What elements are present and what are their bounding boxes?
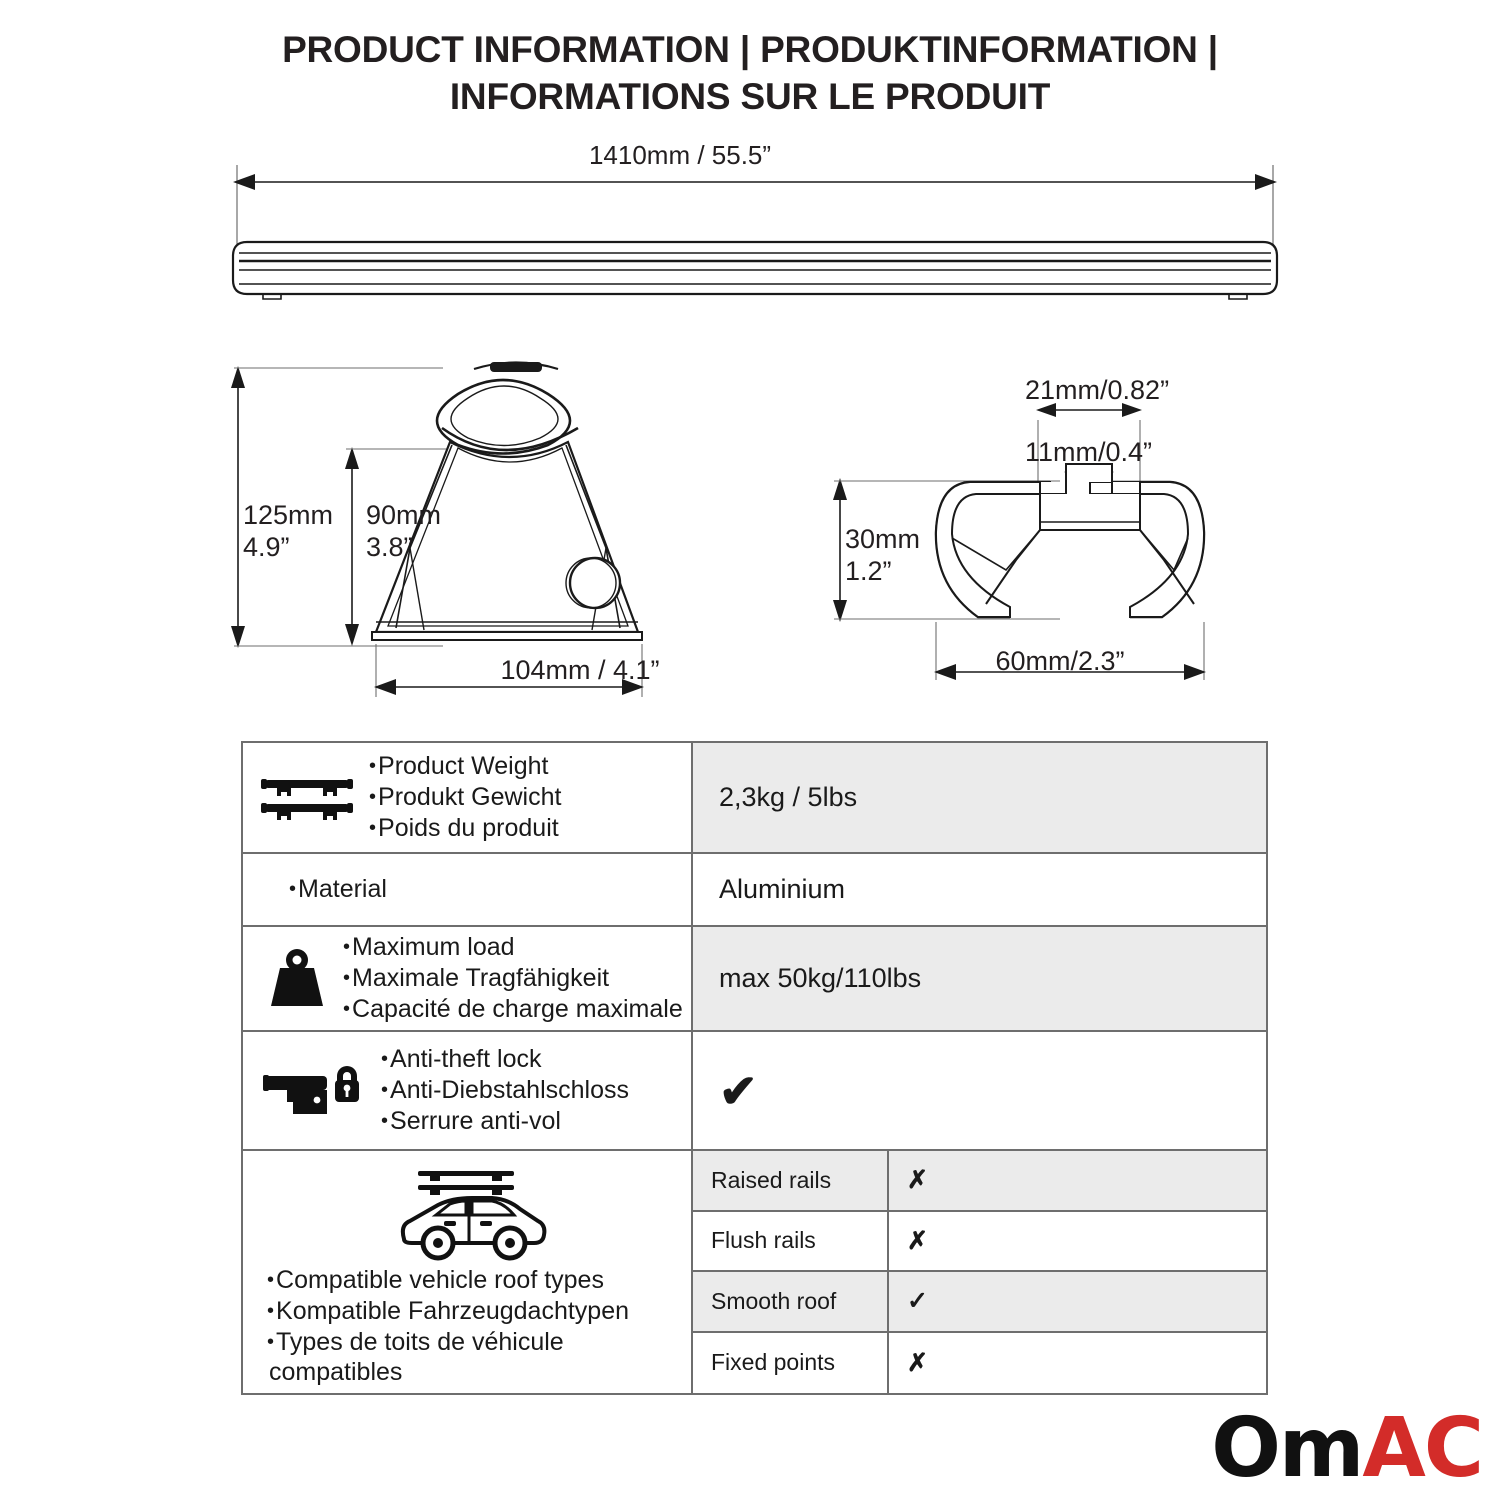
roof-type-name: Smooth roof bbox=[693, 1272, 889, 1331]
bullet-line: Capacité de charge maximale bbox=[343, 994, 683, 1025]
spec-value-weight: 2,3kg / 5lbs bbox=[693, 743, 1266, 852]
crossbar-side-view-diagram bbox=[225, 160, 1325, 350]
bullet-line: Maximale Tragfähigkeit bbox=[343, 963, 683, 994]
spec-bullets: Anti-theft lock Anti-Diebstahlschloss Se… bbox=[381, 1044, 629, 1136]
spec-value-anti-theft: ✔ bbox=[693, 1032, 1266, 1149]
roof-type-name: Fixed points bbox=[693, 1333, 889, 1394]
cross-icon: ✗ bbox=[889, 1212, 1266, 1271]
spec-label-cell: Product Weight Produkt Gewicht Poids du … bbox=[243, 743, 693, 852]
table-row: Compatible vehicle roof types Kompatible… bbox=[243, 1151, 1266, 1393]
bullet-line: Anti-Diebstahlschloss bbox=[381, 1075, 629, 1106]
roof-type-row-fixed-points: Fixed points ✗ bbox=[693, 1333, 1266, 1394]
tower-total-height-label: 125mm 4.9” bbox=[243, 500, 333, 564]
profile-width-label: 60mm/2.3” bbox=[930, 646, 1190, 678]
cross-icon: ✗ bbox=[889, 1333, 1266, 1394]
omac-logo: OmAC bbox=[1211, 1408, 1482, 1490]
bullet-line: Material bbox=[289, 874, 387, 905]
roof-type-row-flush-rails: Flush rails ✗ bbox=[693, 1212, 1266, 1273]
page-title: PRODUCT INFORMATION | PRODUKTINFORMATION… bbox=[250, 26, 1250, 121]
crossbars-icon bbox=[253, 770, 361, 826]
bullet-line: Types de toits de véhicule bbox=[267, 1327, 629, 1358]
bullet-line: Poids du produit bbox=[369, 813, 561, 844]
bullet-continuation: compatibles bbox=[267, 1357, 629, 1388]
roof-types-label-cell: Compatible vehicle roof types Kompatible… bbox=[243, 1151, 693, 1393]
spec-value-max-load: max 50kg/110lbs bbox=[693, 927, 1266, 1030]
spec-bullets: Product Weight Produkt Gewicht Poids du … bbox=[369, 751, 561, 843]
check-icon: ✓ bbox=[889, 1272, 1266, 1331]
checkmark-icon: ✔ bbox=[719, 1068, 758, 1114]
profile-slot-inner-label: 11mm/0.4” bbox=[1025, 437, 1152, 469]
lock-icon bbox=[253, 1060, 373, 1122]
bullet-line: Anti-theft lock bbox=[381, 1044, 629, 1075]
roof-type-name: Flush rails bbox=[693, 1212, 889, 1271]
roof-type-row-smooth-roof: Smooth roof ✓ bbox=[693, 1272, 1266, 1333]
spec-label-cell: Material bbox=[243, 854, 693, 925]
spec-label-cell: Anti-theft lock Anti-Diebstahlschloss Se… bbox=[243, 1032, 693, 1149]
bullet-line: Kompatible Fahrzeugdachtypen bbox=[267, 1296, 629, 1327]
tower-width-label: 104mm / 4.1” bbox=[455, 655, 705, 687]
profile-height-label: 30mm 1.2” bbox=[845, 524, 920, 588]
table-row: Product Weight Produkt Gewicht Poids du … bbox=[243, 743, 1266, 854]
table-row: Anti-theft lock Anti-Diebstahlschloss Se… bbox=[243, 1032, 1266, 1151]
car-roofbars-icon bbox=[392, 1163, 552, 1261]
logo-dark-text: Om bbox=[1211, 1401, 1362, 1496]
page-title-line2: INFORMATIONS SUR LE PRODUIT bbox=[250, 73, 1250, 120]
weight-icon bbox=[253, 948, 341, 1010]
tower-inner-height-label: 90mm 3.8” bbox=[366, 500, 441, 564]
table-row: Material Aluminium bbox=[243, 854, 1266, 927]
cross-icon: ✗ bbox=[889, 1151, 1266, 1210]
page-title-line1: PRODUCT INFORMATION | PRODUKTINFORMATION… bbox=[282, 29, 1218, 70]
bullet-line: Serrure anti-vol bbox=[381, 1106, 629, 1137]
spec-label-cell: Maximum load Maximale Tragfähigkeit Capa… bbox=[243, 927, 693, 1030]
bullet-line: Maximum load bbox=[343, 932, 683, 963]
spec-value-material: Aluminium bbox=[693, 854, 1266, 925]
bullet-line: Product Weight bbox=[369, 751, 561, 782]
roof-types-subtable: Raised rails ✗ Flush rails ✗ Smooth roof… bbox=[693, 1151, 1266, 1393]
table-row: Maximum load Maximale Tragfähigkeit Capa… bbox=[243, 927, 1266, 1032]
spec-bullets: Material bbox=[289, 874, 387, 905]
roof-type-row-raised-rails: Raised rails ✗ bbox=[693, 1151, 1266, 1212]
roof-type-name: Raised rails bbox=[693, 1151, 889, 1210]
profile-slot-outer-label: 21mm/0.82” bbox=[1025, 375, 1169, 407]
specification-table: Product Weight Produkt Gewicht Poids du … bbox=[241, 741, 1268, 1395]
spec-bullets: Maximum load Maximale Tragfähigkeit Capa… bbox=[343, 932, 683, 1024]
logo-red-text: AC bbox=[1362, 1401, 1482, 1496]
bullet-line: Produkt Gewicht bbox=[369, 782, 561, 813]
roof-types-bullets: Compatible vehicle roof types Kompatible… bbox=[255, 1265, 629, 1388]
product-information-sheet: PRODUCT INFORMATION | PRODUKTINFORMATION… bbox=[0, 0, 1500, 1500]
bullet-line: Compatible vehicle roof types bbox=[267, 1265, 629, 1296]
